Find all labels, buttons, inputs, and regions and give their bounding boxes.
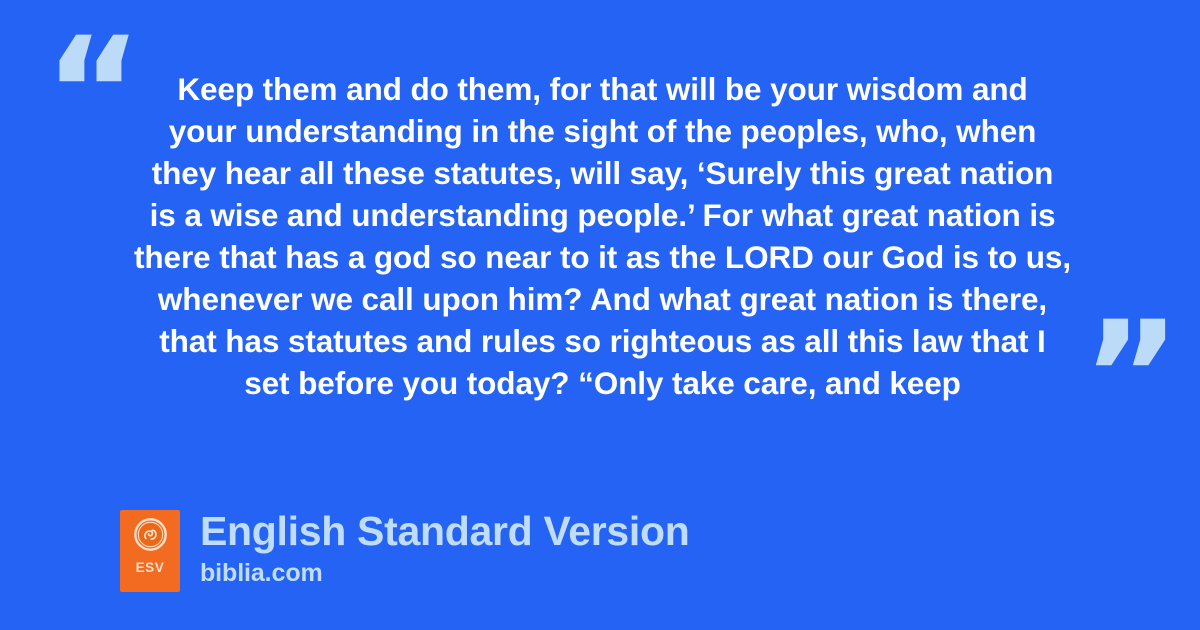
esv-logo-label: ESV bbox=[136, 560, 165, 575]
site-name[interactable]: biblia.com bbox=[200, 558, 689, 588]
attribution-text: English Standard Version biblia.com bbox=[200, 510, 689, 588]
closing-quote-icon: ” bbox=[1082, 302, 1181, 452]
quote-line: is a wise and understanding people.’ For… bbox=[110, 194, 1095, 236]
quote-line: whenever we call upon him? And what grea… bbox=[110, 278, 1095, 320]
quote-line: Keep them and do them, for that will be … bbox=[110, 68, 1095, 110]
quote-line: that has statutes and rules so righteous… bbox=[110, 320, 1095, 362]
scripture-quote-card: “ Keep them and do them, for that will b… bbox=[0, 0, 1200, 630]
esv-seal-icon bbox=[134, 518, 167, 551]
quote-line: there that has a god so near to it as th… bbox=[110, 236, 1095, 278]
quote-text-block: Keep them and do them, for that will be … bbox=[110, 68, 1095, 404]
esv-logo: ESV bbox=[120, 510, 180, 592]
attribution: ESV English Standard Version biblia.com bbox=[120, 510, 689, 592]
quote-line: they hear all these statutes, will say, … bbox=[110, 152, 1095, 194]
quote-line: your understanding in the sight of the p… bbox=[110, 110, 1095, 152]
bible-version-name: English Standard Version bbox=[200, 508, 689, 555]
quote-line: set before you today? “Only take care, a… bbox=[110, 362, 1095, 404]
